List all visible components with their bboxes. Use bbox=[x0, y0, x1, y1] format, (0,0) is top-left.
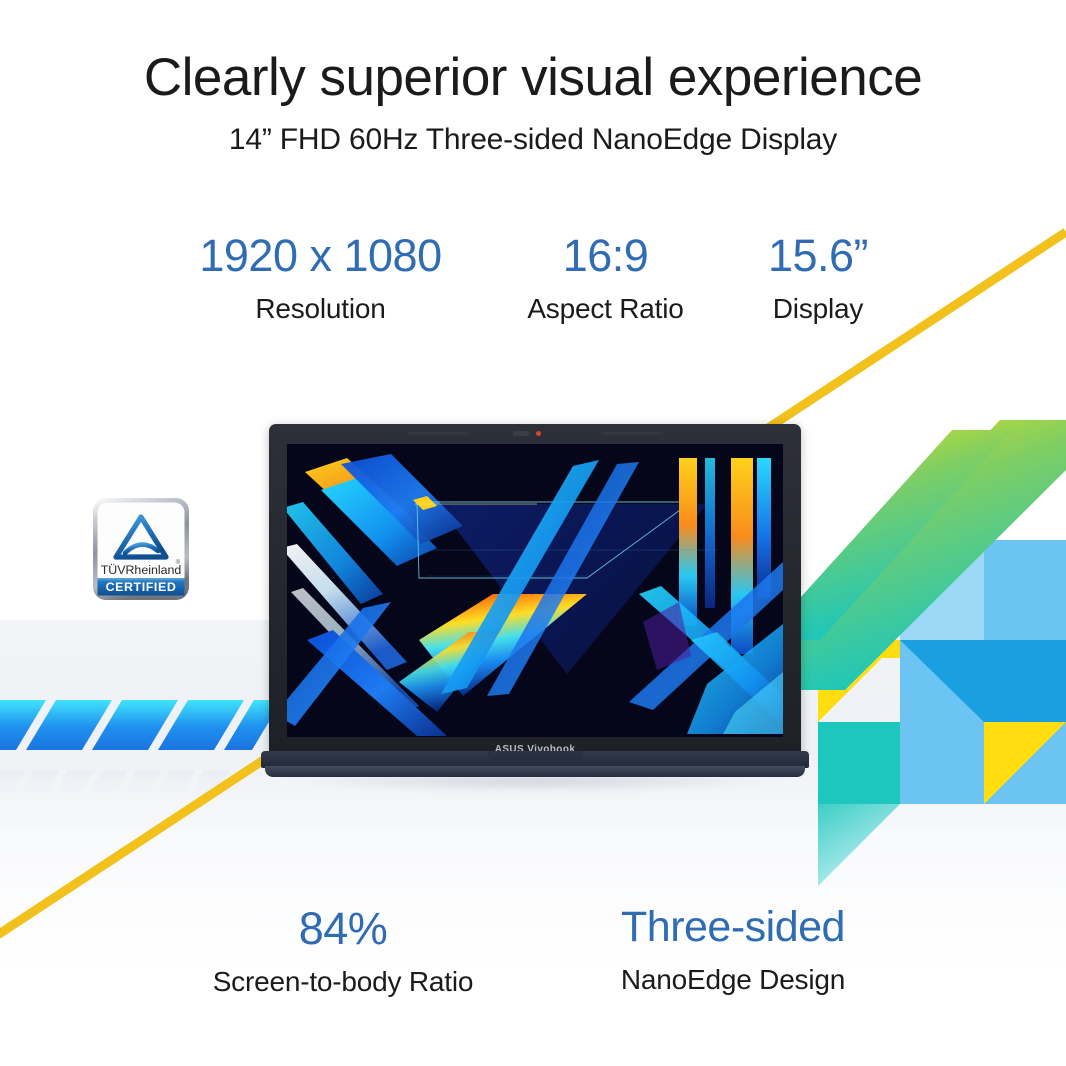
page-subtitle: 14” FHD 60Hz Three-sided NanoEdge Displa… bbox=[0, 123, 1066, 157]
tuv-certified-banner-text: CERTIFIED bbox=[106, 580, 177, 594]
spec-aspect-ratio: 16:9 Aspect Ratio bbox=[493, 232, 718, 325]
spec-nanoedge-design-value: Three-sided bbox=[543, 905, 923, 950]
spec-display-size-label: Display bbox=[718, 293, 918, 325]
spec-resolution: 1920 x 1080 Resolution bbox=[148, 232, 493, 325]
product-feature-banner: Clearly superior visual experience 14” F… bbox=[0, 0, 1066, 1066]
spec-screen-to-body: 84% Screen-to-body Ratio bbox=[143, 905, 543, 998]
speaker-slit-left bbox=[407, 432, 469, 435]
spec-display-size-value: 15.6” bbox=[718, 232, 918, 279]
spec-resolution-label: Resolution bbox=[148, 293, 493, 325]
laptop-screen bbox=[287, 444, 783, 737]
tuv-rheinland-certified-badge: TÜVRheinland ® CERTIFIED bbox=[92, 497, 190, 601]
header-block: Clearly superior visual experience 14” F… bbox=[0, 48, 1066, 157]
laptop-lid: ASUS Vivobook bbox=[269, 424, 801, 761]
spec-screen-to-body-value: 84% bbox=[143, 905, 543, 952]
laptop-base-front-edge bbox=[265, 766, 805, 777]
webcam-lens bbox=[513, 431, 529, 436]
laptop-hinge-notch bbox=[487, 751, 583, 760]
tuv-brand-text: TÜVRheinland bbox=[101, 563, 182, 577]
spec-row-top: 1920 x 1080 Resolution 16:9 Aspect Ratio… bbox=[0, 232, 1066, 325]
webcam-indicator-dot bbox=[536, 431, 541, 436]
spec-nanoedge-design: Three-sided NanoEdge Design bbox=[543, 905, 923, 996]
laptop-product-image: ASUS Vivobook bbox=[255, 424, 815, 789]
page-title: Clearly superior visual experience bbox=[0, 48, 1066, 107]
spec-aspect-ratio-label: Aspect Ratio bbox=[493, 293, 718, 325]
spec-aspect-ratio-value: 16:9 bbox=[493, 232, 718, 279]
laptop-top-bezel bbox=[269, 424, 801, 444]
spec-screen-to-body-label: Screen-to-body Ratio bbox=[143, 966, 543, 998]
spec-display-size: 15.6” Display bbox=[718, 232, 918, 325]
spec-row-bottom: 84% Screen-to-body Ratio Three-sided Nan… bbox=[0, 905, 1066, 998]
tuv-registered-mark: ® bbox=[176, 559, 181, 566]
spec-nanoedge-design-label: NanoEdge Design bbox=[543, 964, 923, 996]
laptop-base-shadow bbox=[283, 777, 787, 791]
speaker-slit-right bbox=[601, 432, 663, 435]
spec-resolution-value: 1920 x 1080 bbox=[148, 232, 493, 279]
laptop-base bbox=[255, 751, 815, 781]
